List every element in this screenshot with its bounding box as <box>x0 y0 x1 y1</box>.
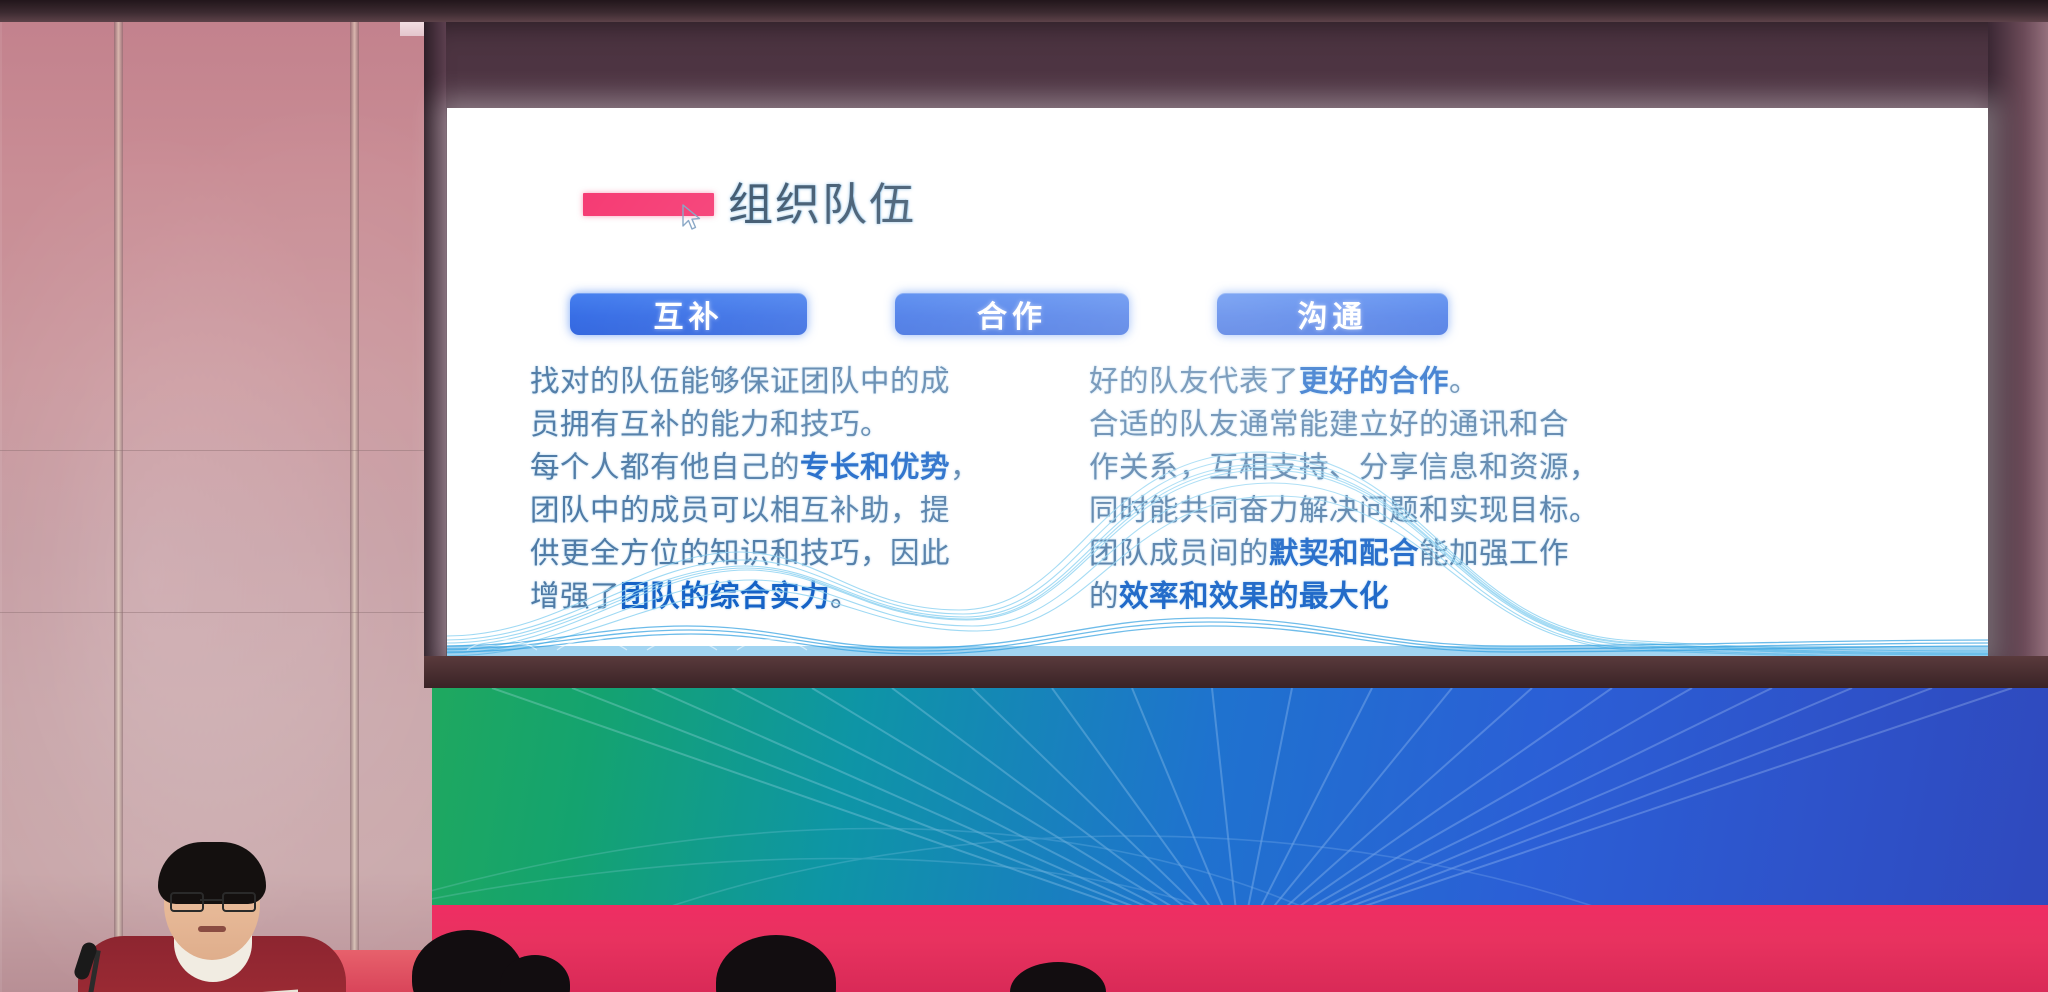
speaker: CDUG PNB <box>78 848 346 992</box>
chip-button-2[interactable]: 沟通 <box>1217 293 1448 335</box>
podium-area: CDUG PNB 1906 <box>0 480 440 992</box>
screen-frame-right-edge <box>1988 22 2048 672</box>
text-line: 好的队友代表了更好的合作。 <box>1089 360 1609 403</box>
slide-title: 组织队伍 <box>728 182 916 227</box>
chip-label-1: 合作 <box>977 292 1047 336</box>
led-wall <box>432 688 2048 920</box>
text-line: 找对的队伍能够保证团队中的成 <box>530 360 960 403</box>
keyword-chip-row: 互补 合作 沟通 <box>447 293 1988 337</box>
glasses-icon <box>170 892 254 908</box>
chip-label-2: 沟通 <box>1298 292 1368 336</box>
slide-title-row: 组织队伍 <box>583 182 916 227</box>
ceiling-beam <box>0 0 2048 22</box>
screen-lower-housing <box>424 656 2048 688</box>
led-ray-pattern <box>432 688 2048 920</box>
stage-floor <box>432 905 2048 992</box>
chip-button-0[interactable]: 互补 <box>570 293 807 335</box>
chip-button-1[interactable]: 合作 <box>895 293 1129 335</box>
wave-decoration <box>447 450 1988 660</box>
text-line: 合适的队友通常能建立好的通讯和合 <box>1089 403 1609 446</box>
speaker-mouth <box>198 926 226 932</box>
lecture-hall-scene: 组织队伍 互补 合作 沟通 找对的队伍能够保证团队中的成员拥有互补的能力和技巧。… <box>0 0 2048 992</box>
text-line: 员拥有互补的能力和技巧。 <box>530 403 960 446</box>
wall-line <box>0 450 432 451</box>
presentation-slide: 组织队伍 互补 合作 沟通 找对的队伍能够保证团队中的成员拥有互补的能力和技巧。… <box>447 108 1988 660</box>
chip-label-0: 互补 <box>654 292 724 336</box>
mouse-pointer-icon <box>681 204 703 232</box>
